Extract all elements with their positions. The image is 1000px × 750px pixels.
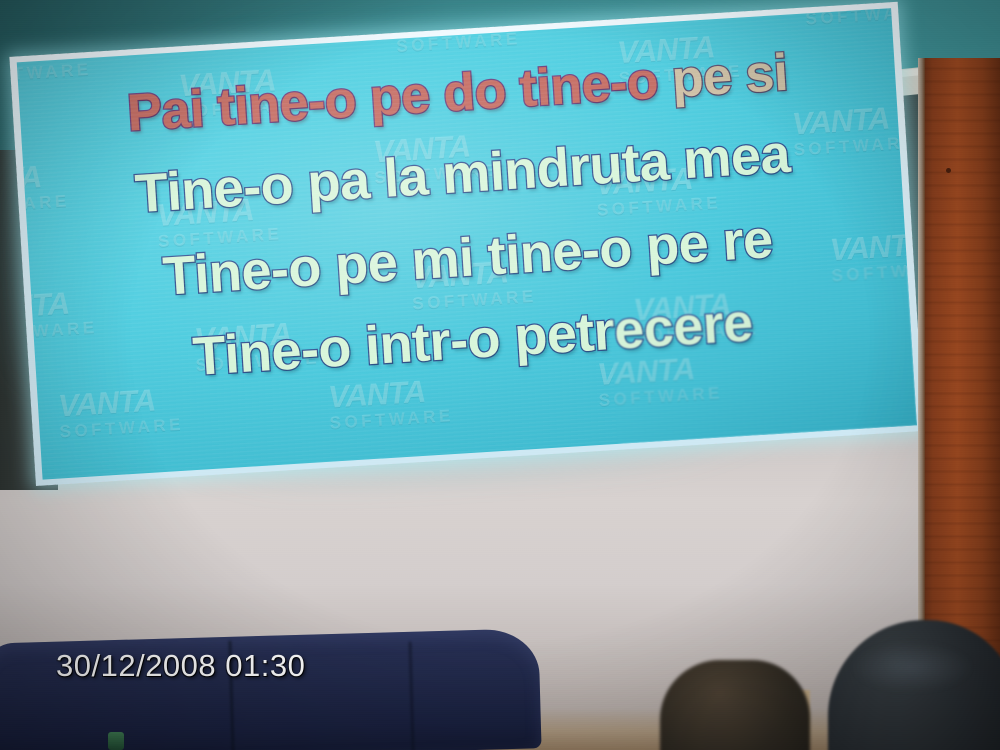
screen-surface: VANTA SOFTWARE VANTA SOFTWARE VANTA SOFT…: [17, 8, 917, 479]
chair-seam-secondary: [409, 642, 415, 750]
audience-head-right-highlight: [852, 642, 972, 692]
chair-back: [0, 628, 542, 750]
camera-timestamp: 30/12/2008 01:30: [56, 648, 305, 684]
projection-screen: VANTA SOFTWARE VANTA SOFTWARE VANTA SOFT…: [9, 2, 924, 486]
bottle: [108, 732, 124, 750]
photograph: VANTA SOFTWARE VANTA SOFTWARE VANTA SOFT…: [0, 0, 1000, 750]
lyric-line-1-sung: Pai tine-o pe do tine-o: [126, 52, 660, 143]
door-mark: [946, 168, 951, 173]
lyric-line-4-text: Tine-o intr-o petrecere: [191, 292, 754, 387]
lyric-line-1-fading: pe si: [656, 44, 789, 110]
lyrics-block: Pai tine-o pe do tine-o pe si Tine-o pa …: [17, 8, 917, 479]
lyric-line-2-text: Tine-o pa la mindruta mea: [133, 124, 791, 224]
lyric-line-3-text: Tine-o pe mi tine-o pe re: [161, 209, 774, 307]
audience-head-left: [660, 660, 810, 750]
